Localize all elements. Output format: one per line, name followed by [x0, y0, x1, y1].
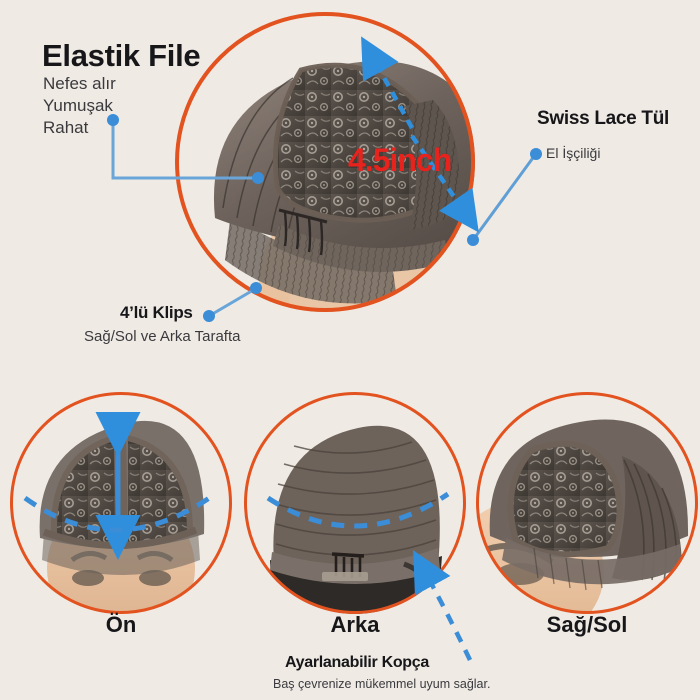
front-cap-illustration	[10, 392, 232, 614]
heading-elastik-file: Elastik File	[42, 38, 200, 74]
heading-adjustable-buckle: Ayarlanabilir Kopça	[285, 654, 429, 672]
elastik-file-line-1: Nefes alır	[43, 74, 116, 94]
heading-klips: 4’lü Klips	[120, 303, 193, 323]
front-view-photo	[10, 392, 232, 614]
infographic-page: Elastik File Nefes alır Yumuşak Rahat Sw…	[0, 0, 700, 700]
elastik-file-line-2: Yumuşak	[43, 96, 113, 116]
connector-swiss-lace	[467, 148, 542, 246]
adjustable-buckle-subtitle: Baş çevrenize mükemmel uyum sağlar.	[273, 677, 490, 691]
heading-swiss-lace: Swiss Lace Tül	[537, 108, 669, 130]
side-cap-illustration	[476, 392, 698, 614]
swiss-lace-subtitle: El İşçiliği	[546, 145, 600, 161]
caption-back: Arka	[244, 612, 466, 638]
klips-subtitle: Sağ/Sol ve Arka Tarafta	[84, 328, 240, 345]
back-cap-illustration	[244, 392, 466, 614]
elastik-file-line-3: Rahat	[43, 118, 88, 138]
caption-front: Ön	[10, 612, 232, 638]
back-view-photo	[244, 392, 466, 614]
measurement-label-45inch: 4.5inch	[348, 142, 451, 179]
side-view-photo	[476, 392, 698, 614]
caption-side: Sağ/Sol	[476, 612, 698, 638]
